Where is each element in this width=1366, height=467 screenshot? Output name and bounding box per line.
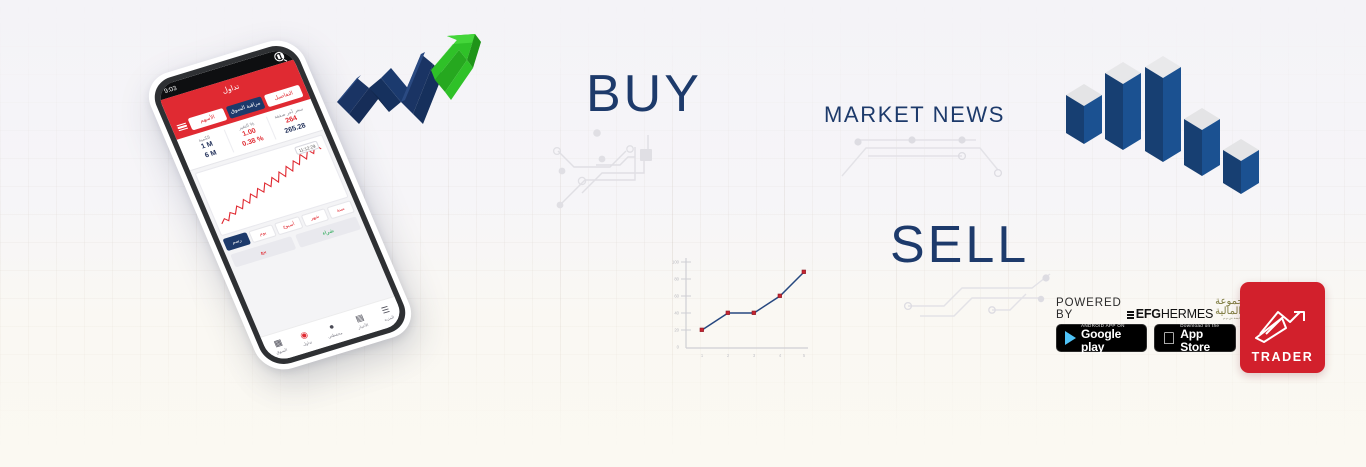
nav-item-market[interactable]: ▦ السوق	[271, 336, 289, 357]
bar-4	[1184, 108, 1220, 176]
circuit-decoration-left	[540, 125, 670, 215]
nav-label: تداول	[302, 340, 313, 347]
arrow-segments	[337, 52, 443, 124]
arrow-head	[431, 34, 481, 100]
efg-wordmark: EFGHERMES	[1136, 308, 1213, 321]
buy-label: BUY	[586, 64, 702, 124]
y-tick-labels: 100 80 60 40 20 0	[672, 260, 680, 350]
svg-text:1: 1	[701, 353, 704, 358]
svg-text:2: 2	[727, 353, 730, 358]
growth-line-chart: 100 80 60 40 20 0 12 34 5	[668, 252, 813, 364]
bar-3	[1145, 56, 1181, 162]
chart-line	[702, 272, 804, 330]
efg-hermes-logo: EFGHERMES المجموعة المالية هيرميس القابض…	[1127, 297, 1256, 320]
nav-item-more[interactable]: ☰ المزيد	[378, 303, 395, 323]
sell-label: SELL	[890, 215, 1029, 275]
powered-by-row: POWERED BY EFGHERMES المجموعة المالية هي…	[1056, 300, 1236, 318]
nav-item-news[interactable]: ▤ الأخبار	[352, 311, 369, 331]
app-store-badge[interactable]:  Download on the App Store	[1154, 324, 1236, 352]
svg-text:40: 40	[674, 311, 679, 316]
bar-2	[1105, 62, 1141, 150]
svg-text:0: 0	[677, 345, 680, 350]
circuit-decoration-right	[900, 272, 1065, 322]
chart-markers	[700, 270, 806, 332]
svg-text:3: 3	[753, 353, 756, 358]
hamburger-icon[interactable]	[176, 122, 188, 132]
google-play-icon	[1065, 331, 1076, 345]
apple-icon: 	[1163, 330, 1176, 347]
nav-label: المزيد	[383, 315, 395, 322]
isometric-bar-chart	[1060, 50, 1275, 225]
powered-by-block: POWERED BY EFGHERMES المجموعة المالية هي…	[1056, 300, 1236, 352]
hermes-text: HERMES	[1161, 307, 1213, 321]
nav-item-portfolio[interactable]: ● محفظتي	[322, 319, 344, 341]
growth-arrow-graphic	[335, 30, 490, 160]
banner-stage: BUY SELL MARKET NEWS 9:03 ▮▮ تداول	[0, 0, 1366, 467]
arrow-chart-icon	[1252, 304, 1314, 348]
efg-text: EFG	[1136, 307, 1161, 321]
efg-bars-icon	[1127, 311, 1134, 321]
x-tick-labels: 12 34 5	[701, 353, 806, 358]
badge-big-text: Google play	[1081, 328, 1138, 352]
svg-text:100: 100	[672, 260, 680, 265]
circuit-decoration-market-news	[838, 130, 1003, 185]
market-news-label: MARKET NEWS	[824, 102, 1005, 128]
svg-text:80: 80	[674, 277, 679, 282]
powered-by-text: POWERED BY	[1056, 297, 1122, 321]
nav-item-trade[interactable]: ◉ تداول	[297, 328, 313, 348]
bar-1	[1066, 84, 1102, 144]
svg-text:5: 5	[803, 353, 806, 358]
google-play-badge[interactable]: ANDROID APP ON Google play	[1056, 324, 1147, 352]
svg-text:60: 60	[674, 294, 679, 299]
store-badges: ANDROID APP ON Google play  Download on…	[1056, 324, 1236, 352]
svg-text:20: 20	[674, 328, 679, 333]
trader-logo-text: TRADER	[1252, 350, 1314, 364]
bar-5	[1223, 139, 1259, 194]
status-time: 9:03	[163, 85, 178, 95]
chart-axes	[686, 258, 808, 348]
svg-text:4: 4	[779, 353, 782, 358]
trader-logo[interactable]: TRADER	[1240, 282, 1325, 373]
badge-big-text: App Store	[1180, 328, 1227, 352]
